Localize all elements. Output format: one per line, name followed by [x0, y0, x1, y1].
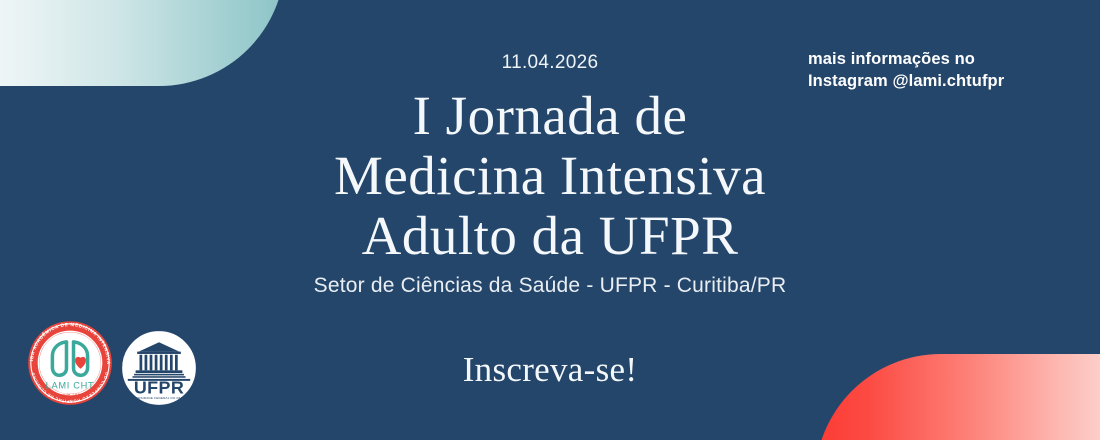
event-title-line-3: Adulto da UFPR [0, 206, 1100, 266]
event-title: I Jornada de Medicina Intensiva Adulto d… [0, 86, 1100, 266]
svg-text:UFPR: UFPR [134, 378, 184, 398]
event-title-line-2: Medicina Intensiva [0, 146, 1100, 206]
event-title-line-1: I Jornada de [0, 86, 1100, 146]
svg-text:— Desde 2022 —: — Desde 2022 — [51, 392, 89, 397]
contact-line-1: mais informações no [808, 48, 1004, 70]
event-location: Setor de Ciências da Saúde - UFPR - Curi… [0, 274, 1100, 298]
svg-text:UNIVERSIDADE FEDERAL DO PARANÁ: UNIVERSIDADE FEDERAL DO PARANÁ [128, 396, 191, 400]
event-banner: 11.04.2026 mais informações no Instagram… [0, 0, 1100, 440]
ufpr-logo: UFPR UNIVERSIDADE FEDERAL DO PARANÁ [120, 329, 198, 407]
lami-cht-logo: LIGA ACADÊMICA DE MEDICINA INTENSIVA DO … [26, 319, 114, 407]
logo-row: LIGA ACADÊMICA DE MEDICINA INTENSIVA DO … [26, 319, 198, 407]
svg-text:LAMI CHT: LAMI CHT [46, 381, 95, 391]
